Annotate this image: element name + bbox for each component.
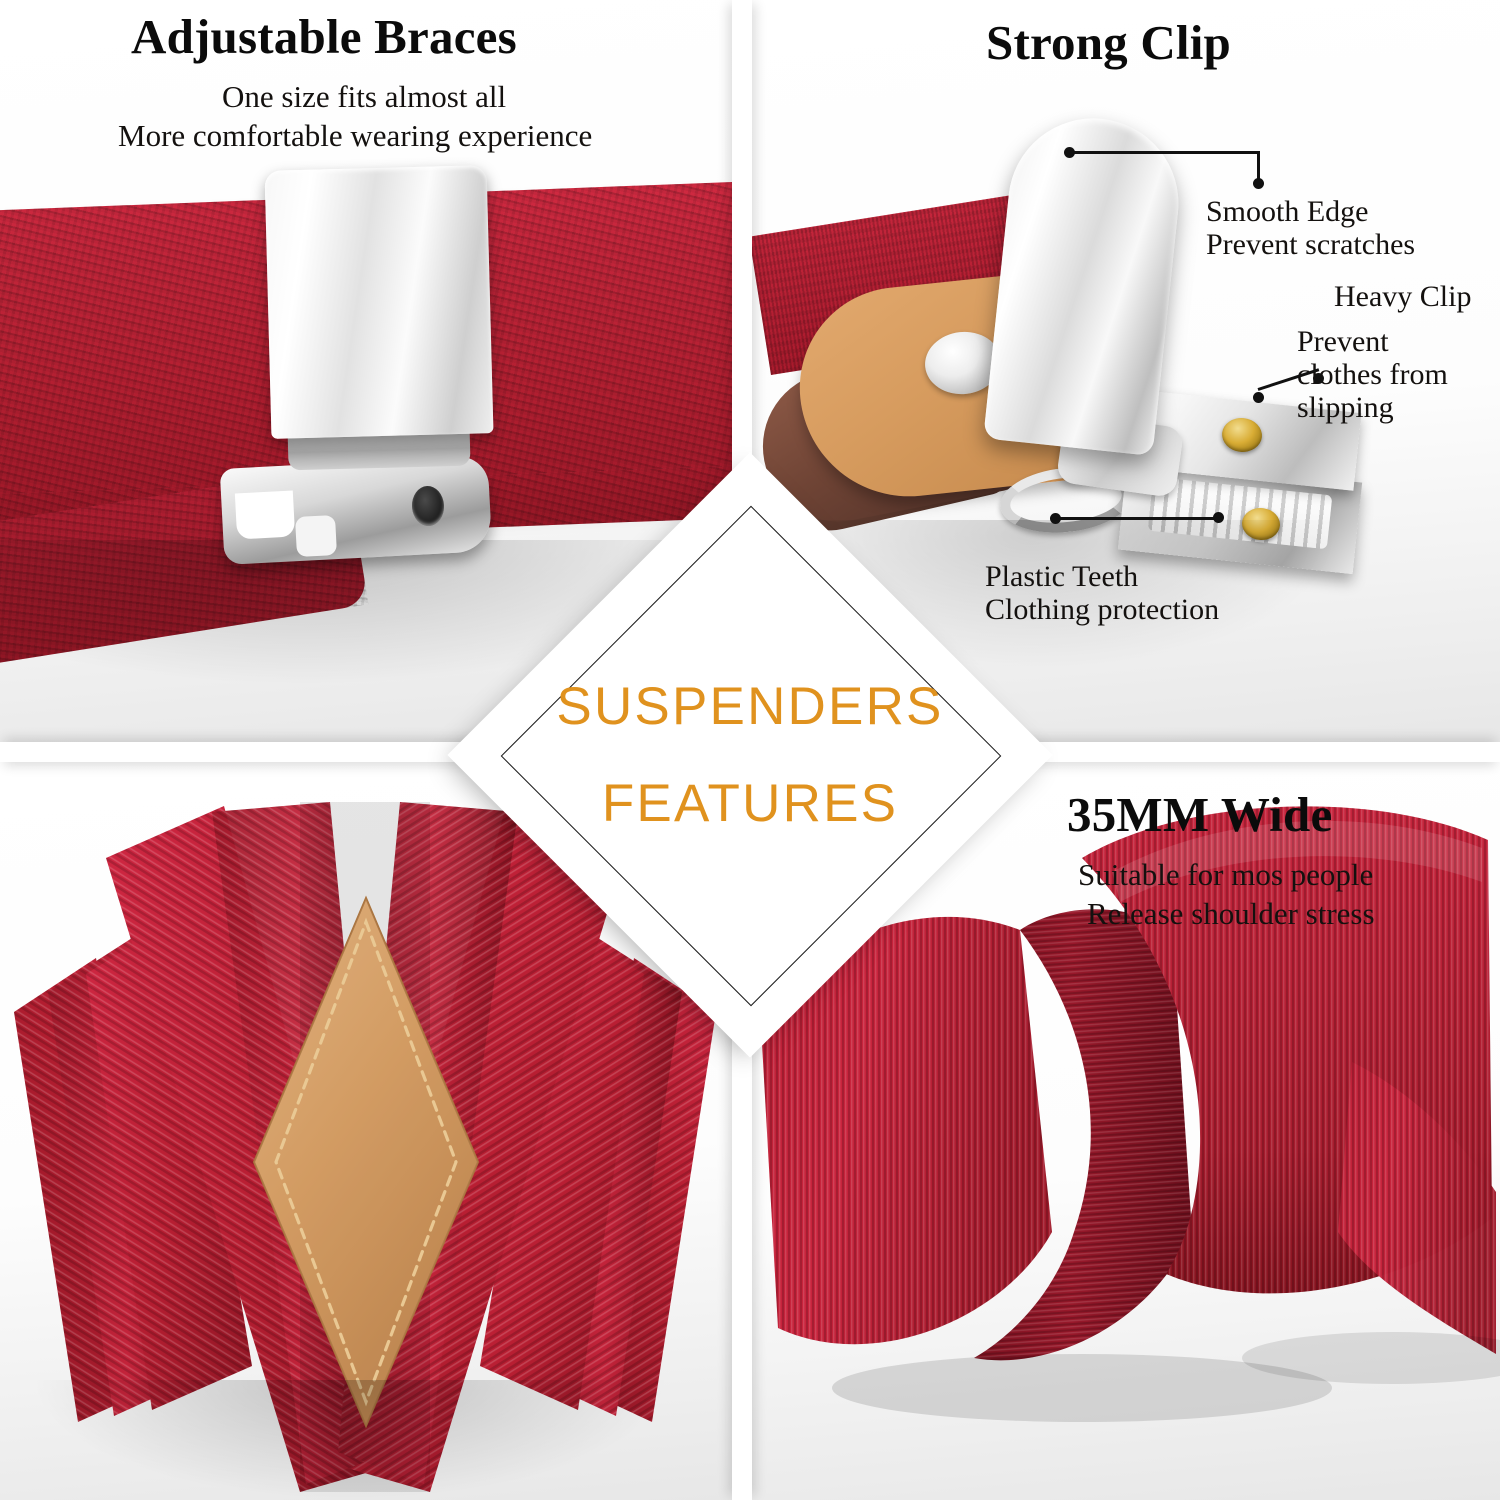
adjuster-slider-plate (265, 165, 494, 439)
center-badge: SUSPENDERS FEATURES (447, 452, 1053, 1058)
metal-hook-notch-secondary (295, 515, 337, 557)
panel-title-adjustable-braces: Adjustable Braces (131, 12, 517, 61)
folded-straps-shadow (30, 1380, 670, 1500)
infographic-canvas: Adjustable Braces One size fits almost a… (0, 0, 1500, 1500)
badge-line-features: FEATURES (602, 777, 898, 830)
badge-line-suspenders: SUSPENDERS (556, 680, 943, 733)
panel-subtitle-one-size: One size fits almost all (222, 80, 506, 113)
clip-lever-smooth-edge (983, 110, 1187, 456)
panel-subtitle-comfortable: More comfortable wearing experience (118, 119, 592, 152)
badge-text-group: SUSPENDERS FEATURES (447, 452, 1053, 1058)
metal-hook-notch (235, 491, 295, 540)
